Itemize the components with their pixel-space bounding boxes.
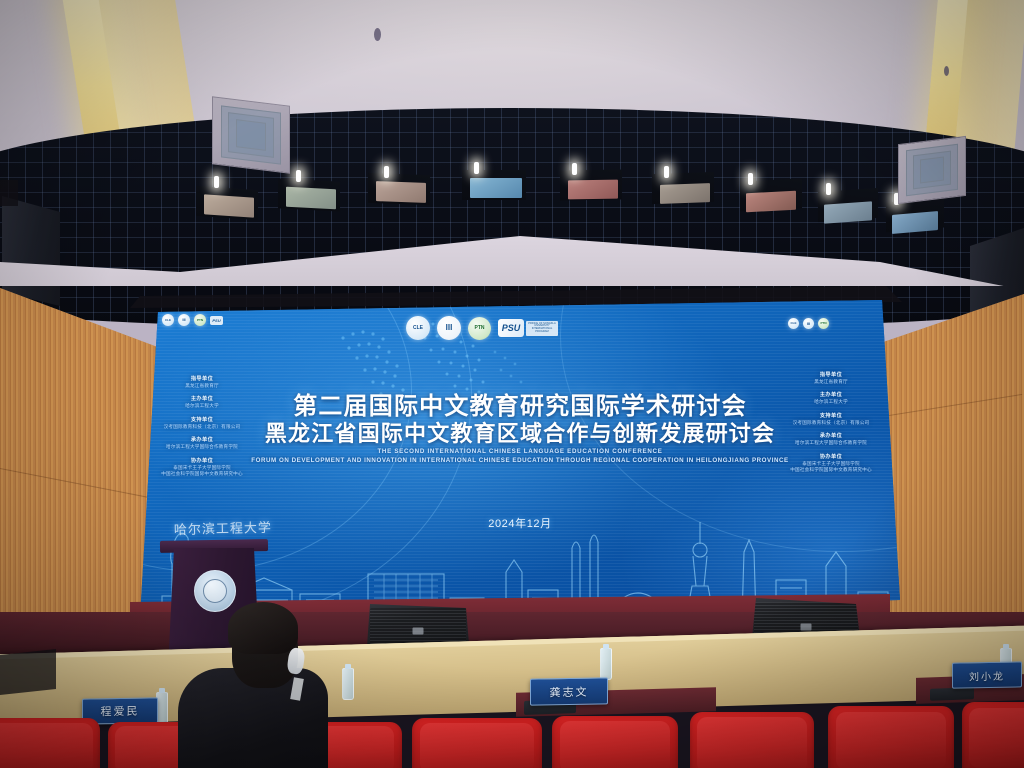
- nameplate-right-text: 刘小龙: [969, 667, 1005, 683]
- audience-chair: [0, 718, 100, 768]
- stage-lamp: [748, 173, 753, 185]
- logo-psu-text: PSU: [502, 323, 521, 333]
- stage-lamp: [664, 166, 669, 178]
- stage-light-reflector: [746, 191, 796, 213]
- logo-heu-icon: III: [437, 316, 461, 340]
- logo-psu-group: PSU PRINCE OF SONGKLA UNIVERSITY INTERNA…: [498, 319, 558, 337]
- screen-english-line2: FORUM ON DEVELOPMENT AND INNOVATION IN I…: [140, 457, 900, 464]
- nameplate-left-text: 程爱民: [101, 703, 140, 720]
- screen-title-line2: 黑龙江省国际中文教育区域合作与创新发展研讨会: [140, 416, 900, 448]
- hanging-speaker-left: [2, 196, 60, 306]
- organizer-heading: 指导单位: [772, 372, 890, 379]
- water-bottle: [600, 648, 612, 680]
- organizer-heading: 指导单位: [148, 376, 256, 383]
- conference-hall-photo: CLE III PTN PSU PRINCE OF SONGKLA UNIVER…: [0, 0, 1024, 768]
- nameplate-right: 刘小龙: [952, 661, 1022, 688]
- logo-small-3-icon: PTN: [818, 318, 829, 329]
- stage-light-reflector: [204, 194, 254, 217]
- logo-small-1-icon: CLE: [788, 318, 799, 329]
- audience-chair: [962, 702, 1024, 768]
- stage-lamp: [384, 166, 389, 178]
- logo-small-1-icon: CLE: [162, 314, 174, 326]
- screen-english-line1: THE SECOND INTERNATIONAL CHINESE LANGUAG…: [140, 448, 900, 455]
- center-logo-row: CLE III PTN PSU PRINCE OF SONGKLA UNIVER…: [406, 316, 558, 340]
- attendee-hair: [228, 602, 298, 654]
- ceiling-air-vent-right: [898, 136, 966, 204]
- stage-lamp: [214, 176, 219, 188]
- logo-ptn-icon: PTN: [468, 317, 491, 340]
- logo-cle-text: CLE: [413, 326, 423, 331]
- logo-psu-icon: PSU: [498, 319, 524, 337]
- logo-ptn-text: PTN: [475, 326, 485, 331]
- jbl-logo-icon: [801, 623, 812, 630]
- stage-lamp: [474, 162, 479, 174]
- logo-small-3-icon: PTN: [194, 314, 206, 326]
- nameplate-center: 龚志文: [530, 677, 608, 705]
- right-small-logo-row: CLE III PTN: [788, 318, 829, 329]
- ceiling-fixture-dot-2: [944, 66, 949, 76]
- left-small-logo-row: CLE III PTN PSU: [162, 314, 223, 326]
- logo-small-2-icon: III: [178, 314, 190, 326]
- university-emblem-icon: [194, 570, 236, 612]
- stage-light-reflector: [286, 187, 336, 210]
- logo-small-4-icon: PSU: [210, 316, 223, 325]
- ceiling-air-vent-left: [212, 96, 290, 174]
- audience-chair: [828, 706, 954, 768]
- stage-light-reflector: [824, 201, 872, 223]
- logo-heu-text: III: [446, 324, 453, 332]
- stage-light-reflector: [568, 180, 618, 200]
- audience-chair: [690, 712, 814, 768]
- laptop: [930, 687, 974, 701]
- ceiling-fixture-dot-1: [374, 28, 381, 41]
- water-bottle: [342, 668, 354, 700]
- organizer-text: 泰国宋卡王子大学国际学院 中国社会科学院国际中文教育研究中心: [148, 465, 256, 478]
- ceiling-rigging-left: [0, 180, 18, 206]
- stage-lamp: [572, 163, 577, 175]
- logo-cle-icon: CLE: [406, 316, 430, 340]
- organizer-block: 指导单位 黑龙江省教育厅: [772, 372, 890, 385]
- jbl-logo-icon: [413, 627, 424, 634]
- foreground-equipment-left: [0, 649, 56, 695]
- stage-lamp: [826, 183, 831, 195]
- logo-psu-caption: PRINCE OF SONGKLA UNIVERSITY INTERNATION…: [527, 323, 557, 334]
- audience-chair: [552, 716, 678, 768]
- stage-light-reflector: [376, 181, 426, 203]
- stage-light-reflector: [892, 211, 938, 234]
- nameplate-center-text: 龚志文: [550, 683, 589, 700]
- logo-psu-caption-box: PRINCE OF SONGKLA UNIVERSITY INTERNATION…: [526, 321, 558, 336]
- organizer-text: 黑龙江省教育厅: [772, 379, 890, 385]
- stage-light-reflector: [660, 183, 710, 204]
- stage-lamp: [296, 170, 301, 182]
- logo-small-2-icon: III: [803, 318, 814, 329]
- audience-chair: [412, 718, 542, 768]
- stage-light-reflector: [470, 178, 522, 198]
